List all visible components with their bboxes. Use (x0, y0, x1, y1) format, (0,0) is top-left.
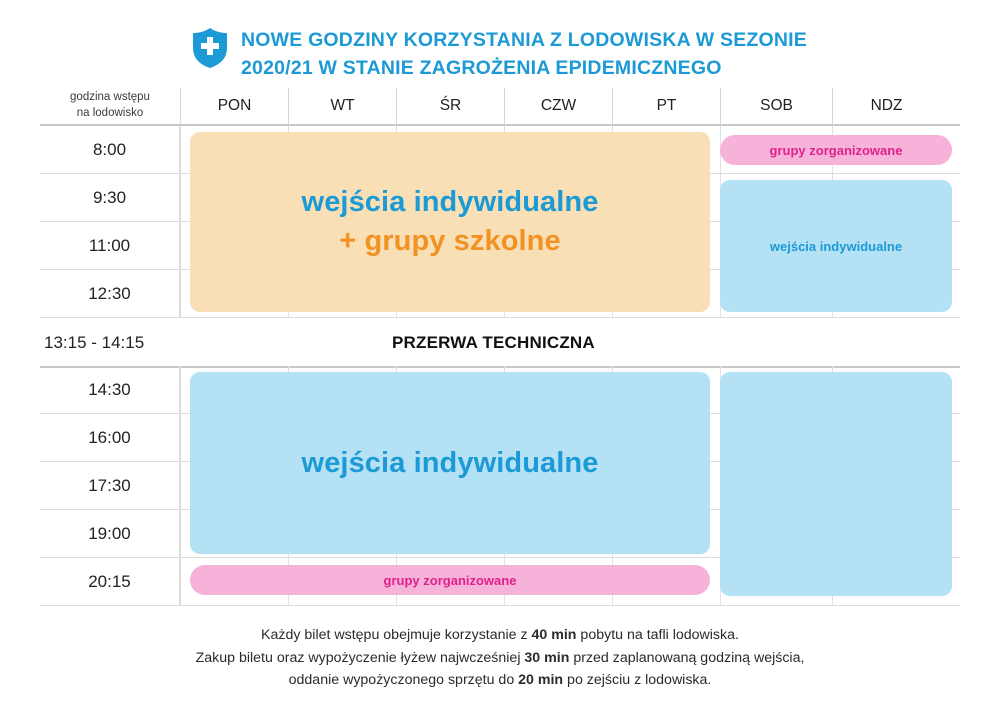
block-afternoon-weekday-individual-label: wejścia indywidualne (302, 447, 599, 480)
block-afternoon-weekday-groups[interactable]: grupy zorganizowane (190, 565, 710, 595)
time-column-header: godzina wstępu na lodowisko (40, 88, 180, 124)
time-label-1230: 12:30 (40, 270, 180, 317)
day-header-wt: WT (288, 88, 396, 124)
block-afternoon-weekend-individual[interactable] (720, 372, 952, 596)
footer-line-1: Każdy bilet wstępu obejmuje korzystanie … (0, 624, 1000, 647)
time-label-0800: 8:00 (40, 126, 180, 173)
day-header-sr: ŚR (396, 88, 504, 124)
time-label-1100: 11:00 (40, 222, 180, 269)
block-morning-weekend-individual-label: wejścia indywidualne (770, 239, 902, 254)
day-header-ndz: NDZ (832, 88, 940, 124)
table-header-row: godzina wstępu na lodowisko PON WT ŚR CZ… (40, 88, 960, 126)
footer-line-3-b: 20 min (518, 672, 563, 688)
day-header-pon: PON (180, 88, 288, 124)
footer-line-2-a: Zakup biletu oraz wypożyczenie łyżew naj… (196, 650, 525, 666)
time-label-2015: 20:15 (40, 558, 180, 605)
block-morning-weekday-line1: wejścia indywidualne (302, 185, 599, 220)
footer-line-2-b: 30 min (524, 650, 569, 666)
footer-line-1-c: pobytu na tafli lodowiska. (576, 627, 738, 643)
day-header-czw: CZW (504, 88, 612, 124)
block-morning-weekday[interactable]: wejścia indywidualne + grupy szkolne (190, 132, 710, 312)
footer-line-3-c: po zejściu z lodowiska. (563, 672, 711, 688)
footer-line-3-a: oddanie wypożyczonego sprzętu do (289, 672, 519, 688)
afternoon-grid: 14:30 16:00 17:30 (40, 366, 960, 609)
time-label-1730: 17:30 (40, 462, 180, 509)
page-title: NOWE GODZINY KORZYSTANIA Z LODOWISKA W S… (241, 26, 807, 83)
time-label-1600: 16:00 (40, 414, 180, 461)
time-label-1430: 14:30 (40, 366, 180, 413)
block-morning-weekday-line2: + grupy szkolne (302, 224, 599, 259)
break-block: 13:15 - 14:15 PRZERWA TECHNICZNA (40, 320, 960, 366)
footer-line-1-b: 40 min (532, 627, 577, 643)
morning-grid: 8:00 9:30 11:00 (40, 126, 960, 320)
footer-note: Każdy bilet wstępu obejmuje korzystanie … (0, 624, 1000, 692)
shield-cross-icon (193, 28, 227, 68)
footer-line-2-c: przed zaplanowaną godziną wejścia, (569, 650, 804, 666)
footer-line-1-a: Każdy bilet wstępu obejmuje korzystanie … (261, 627, 531, 643)
footer-line-2: Zakup biletu oraz wypożyczenie łyżew naj… (0, 647, 1000, 670)
day-header-pt: PT (612, 88, 720, 124)
block-morning-weekend-groups-label: grupy zorganizowane (770, 143, 903, 158)
footer-line-3: oddanie wypożyczonego sprzętu do 20 min … (0, 669, 1000, 692)
break-time-label: 13:15 - 14:15 (44, 333, 144, 353)
block-morning-weekend-groups[interactable]: grupy zorganizowane (720, 135, 952, 165)
schedule-table: godzina wstępu na lodowisko PON WT ŚR CZ… (40, 88, 960, 609)
block-afternoon-weekday-groups-label: grupy zorganizowane (384, 573, 517, 588)
block-afternoon-weekday-individual[interactable]: wejścia indywidualne (190, 372, 710, 554)
page-header: NOWE GODZINY KORZYSTANIA Z LODOWISKA W S… (0, 26, 1000, 83)
break-title: PRZERWA TECHNICZNA (392, 333, 595, 353)
time-label-0930: 9:30 (40, 174, 180, 221)
block-morning-weekend-individual[interactable]: wejścia indywidualne (720, 180, 952, 312)
day-header-sob: SOB (720, 88, 832, 124)
time-label-1900: 19:00 (40, 510, 180, 557)
